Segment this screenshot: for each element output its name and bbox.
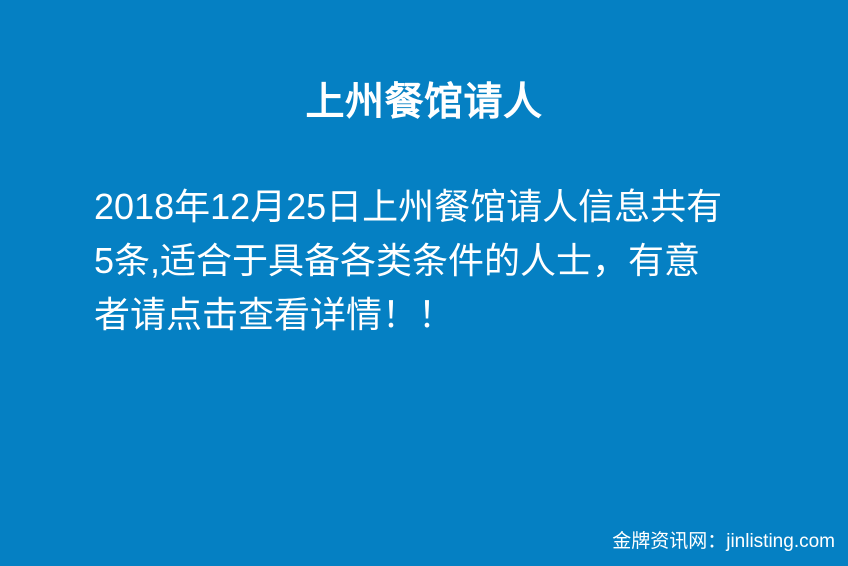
footer-separator: ：	[707, 531, 726, 552]
body-line-1: 2018年12月25日上州餐馆请人信息共有	[94, 180, 784, 234]
poster-canvas: 上州餐馆请人 2018年12月25日上州餐馆请人信息共有 5条,适合于具备各类条…	[0, 0, 848, 566]
watermark-footer: 金牌资讯网：jinlisting.com	[612, 530, 835, 554]
body-line-2: 5条,适合于具备各类条件的人士，有意	[94, 234, 784, 288]
site-name-label: 金牌资讯网	[612, 531, 707, 552]
page-title: 上州餐馆请人	[0, 79, 848, 127]
site-domain-label: jinlisting.com	[726, 531, 835, 552]
poster-body-text: 2018年12月25日上州餐馆请人信息共有 5条,适合于具备各类条件的人士，有意…	[94, 180, 784, 342]
body-line-3: 者请点击查看详情！！	[94, 288, 784, 342]
